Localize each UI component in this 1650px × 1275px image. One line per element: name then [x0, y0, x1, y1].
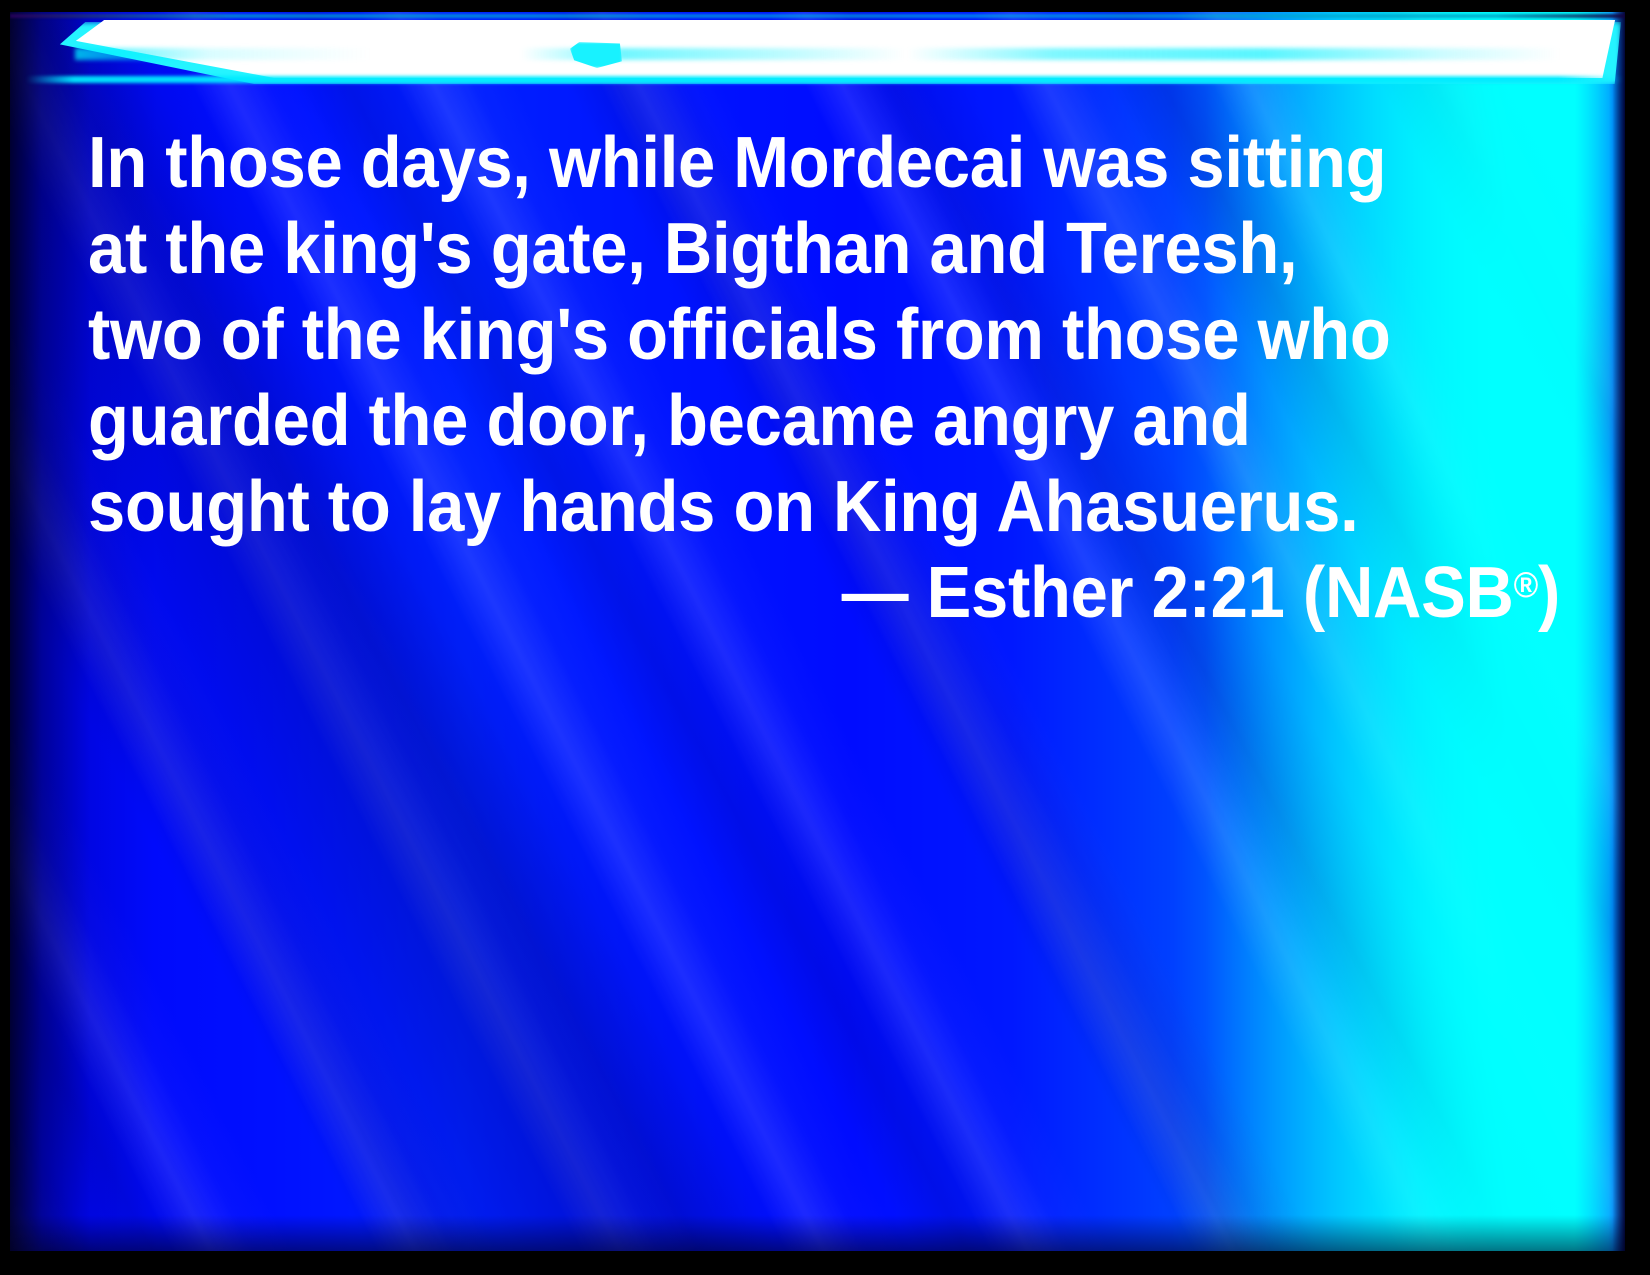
border-bottom	[0, 1251, 1650, 1275]
border-top	[0, 0, 1650, 12]
registered-trademark-icon: ®	[1514, 564, 1538, 605]
reference-book: Esther	[927, 553, 1134, 633]
border-left	[0, 0, 10, 1275]
verse-body-text: In those days, while Mordecai was sittin…	[88, 120, 1446, 550]
reference-dash: —	[842, 553, 909, 633]
reference-translation-open: (NASB	[1303, 553, 1514, 633]
border-right	[1625, 0, 1650, 1275]
reference-translation-close: )	[1538, 553, 1560, 633]
slide-canvas: In those days, while Mordecai was sittin…	[10, 12, 1625, 1252]
verse-content: In those days, while Mordecai was sittin…	[10, 12, 1625, 1252]
verse-slide: In those days, while Mordecai was sittin…	[0, 0, 1650, 1275]
reference-chapter-verse: 2:21	[1152, 553, 1285, 633]
verse-reference: — Esther 2:21 (NASB®)	[191, 550, 1560, 636]
